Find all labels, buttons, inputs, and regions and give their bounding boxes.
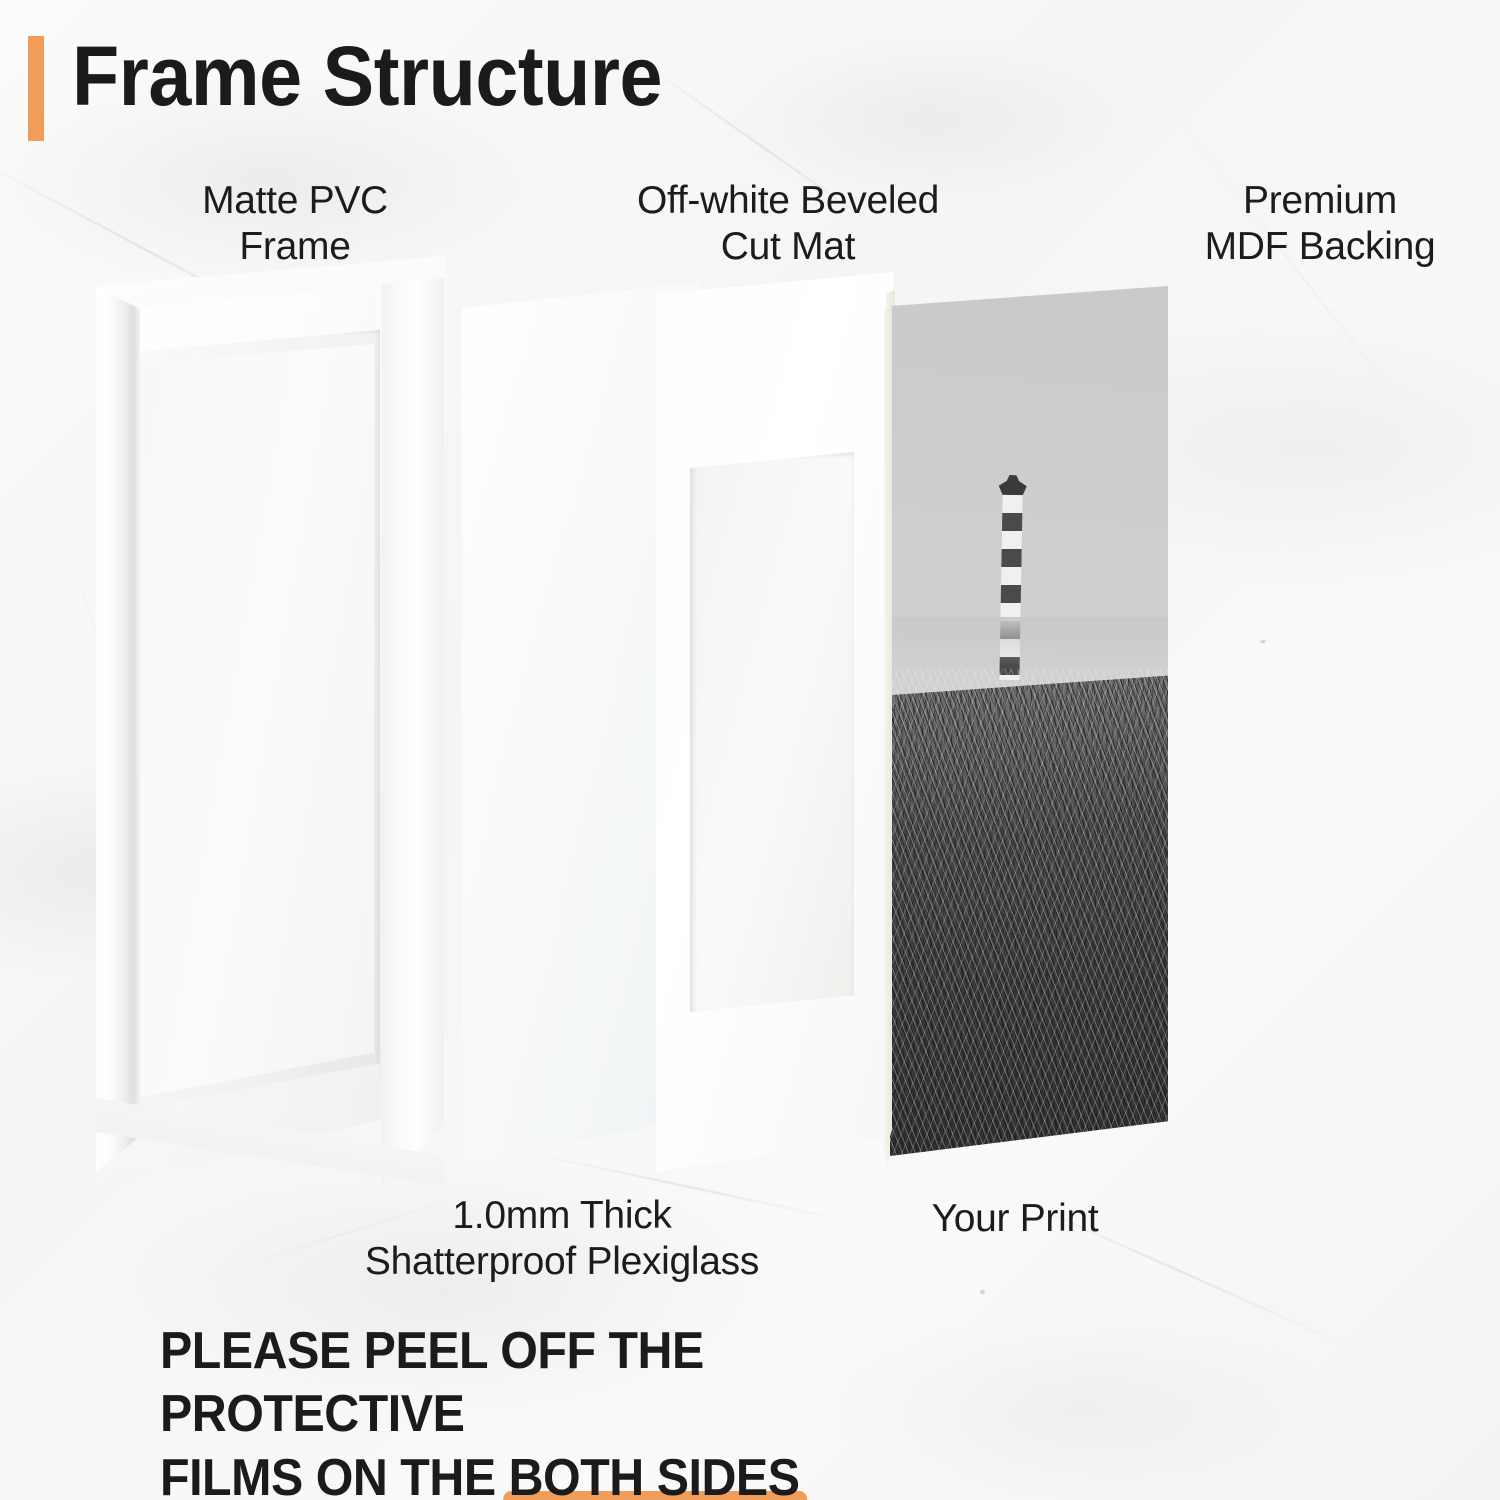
mdf-backing-board [1168, 288, 1450, 1138]
pvc-frame-right-rail [382, 256, 444, 1190]
cta-line-2-prefix: FILMS ON THE [160, 1449, 509, 1500]
label-your-print: Your Print [890, 1196, 1140, 1242]
peel-instruction-text: PLEASE PEEL OFF THE PROTECTIVE FILMS ON … [160, 1320, 997, 1500]
label-plexiglass: 1.0mm Thick Shatterproof Plexiglass [288, 1193, 836, 1285]
print-left-edge [884, 288, 892, 1156]
label-line: Premium [1140, 178, 1500, 224]
print-photo [890, 286, 1168, 1156]
label-mdf-backing: Premium MDF Backing [1140, 178, 1500, 270]
cta-line-1: PLEASE PEEL OFF THE PROTECTIVE [160, 1320, 997, 1447]
label-line: Cut Mat [568, 224, 1008, 270]
pvc-frame-left-rail [96, 282, 140, 1172]
label-cut-mat: Off-white Beveled Cut Mat [568, 178, 1008, 270]
pvc-frame-opening [138, 344, 374, 1098]
infographic-canvas: Frame Structure Matte PVC Frame Off-whit… [0, 0, 1500, 1500]
label-line: 1.0mm Thick [288, 1193, 836, 1239]
title-accent-bar [28, 36, 44, 141]
print-grass-highlights [890, 669, 1168, 1156]
cta-highlight-text: BOTH SIDES [509, 1449, 800, 1500]
label-line: Matte PVC [110, 178, 480, 224]
label-pvc-frame: Matte PVC Frame [110, 178, 480, 270]
page-title: Frame Structure [72, 28, 662, 125]
cta-line-2: FILMS ON THE BOTH SIDES [160, 1447, 997, 1500]
label-line: Shatterproof Plexiglass [288, 1239, 836, 1285]
label-line: MDF Backing [1140, 224, 1500, 270]
cta-highlight: BOTH SIDES [509, 1447, 800, 1500]
marble-speck [980, 1290, 985, 1294]
mat-board-window [690, 452, 854, 1012]
label-line: Off-white Beveled [568, 178, 1008, 224]
